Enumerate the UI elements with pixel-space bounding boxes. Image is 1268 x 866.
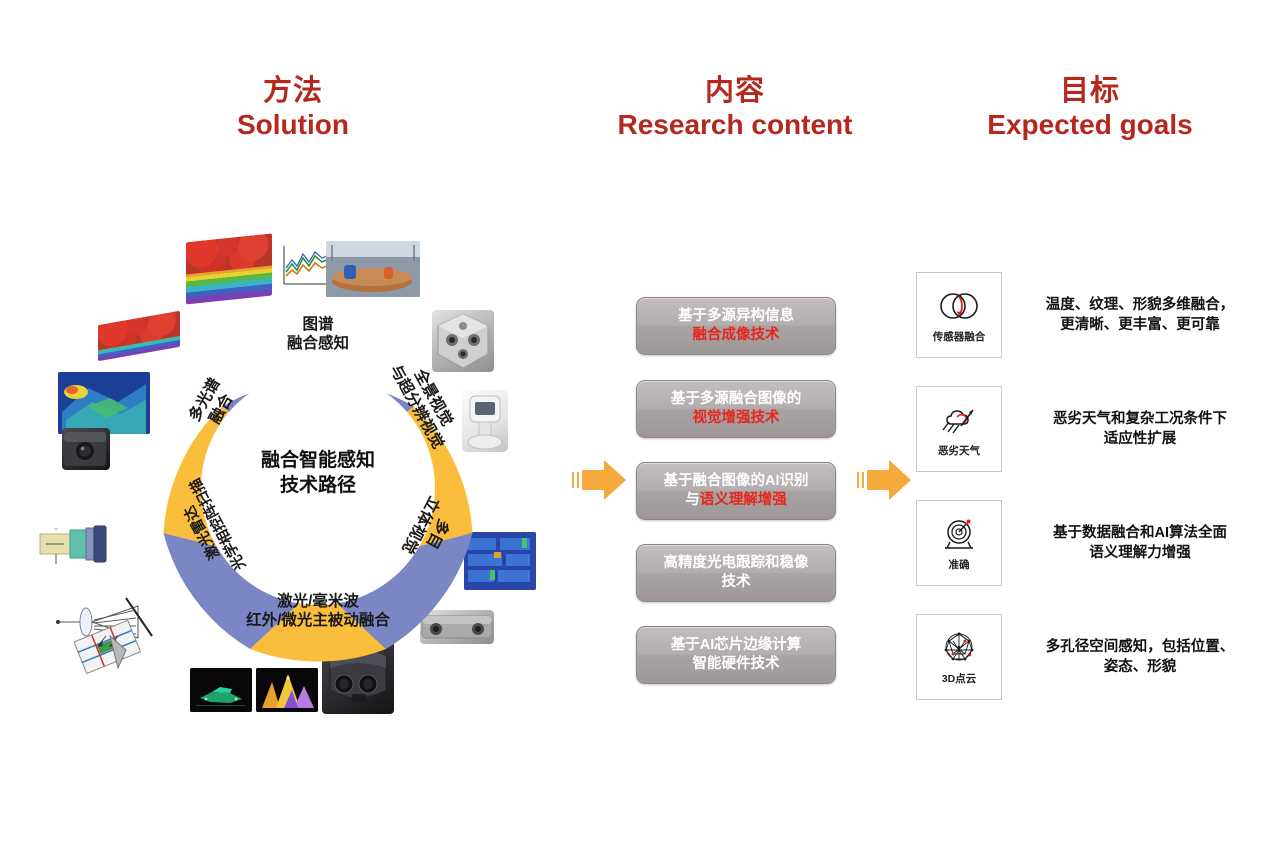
solution-donut-chart: 图谱 融合感知 全景视觉 与超分辨视觉 多目 立体视觉 激光/毫米波 红外/微光… <box>118 288 518 688</box>
donut-center-title: 融合智能感知 技术路径 <box>230 448 406 498</box>
bad-weather-rain-cloud-icon <box>937 400 981 440</box>
diagram-canvas: 方法 Solution 内容 Research content 目标 Expec… <box>0 0 1268 866</box>
goal-card-caption-2: 准确 <box>949 557 970 572</box>
goal-card-bad-weather[interactable]: 恶劣天气 <box>916 386 1002 472</box>
goal-text-0-line1: 温度、纹理、形貌多维融合， <box>1022 295 1258 315</box>
donut-label-3-line2: 红外/微光主被动融合 <box>218 612 418 631</box>
goal-card-accuracy[interactable]: 准确 <box>916 500 1002 586</box>
goal-text-1-line1: 恶劣天气和复杂工况条件下 <box>1022 409 1258 429</box>
research-box-1-line2: 视觉增强技术 <box>693 409 780 428</box>
research-box-2-prefix: 与 <box>685 492 700 508</box>
goal-card-sensor-fusion[interactable]: 传感器融合 <box>916 272 1002 358</box>
spectral-chart-icon <box>272 240 334 294</box>
header-cn-solution: 方法 <box>178 74 408 108</box>
goal-card-caption-0: 传感器融合 <box>933 329 986 344</box>
goal-text-2-line2: 语义理解力增强 <box>1022 543 1258 563</box>
goal-text-2-line1: 基于数据融合和AI算法全面 <box>1022 523 1258 543</box>
goal-card-caption-1: 恶劣天气 <box>938 443 980 458</box>
thumbnail-spectral-signature-chart <box>272 240 334 294</box>
donut-label-0-line1: 图谱 <box>228 316 408 335</box>
header-cn-goals: 目标 <box>950 74 1230 108</box>
donut-center-line2: 技术路径 <box>230 473 406 498</box>
research-box-visual-enhancement[interactable]: 基于多源融合图像的 视觉增强技术 <box>636 380 836 438</box>
right-arrow-icon-2 <box>855 456 915 504</box>
goal-text-point-cloud: 多孔径空间感知，包括位置、 姿态、形貌 <box>1022 637 1258 677</box>
point-cloud-sphere-icon <box>937 628 981 668</box>
goal-card-caption-3: 3D点云 <box>942 671 976 686</box>
header-en-content: Research content <box>600 108 870 142</box>
sensor-fusion-venn-icon <box>937 286 981 326</box>
goal-text-sensor-fusion: 温度、纹理、形貌多维融合， 更清晰、更丰富、更可靠 <box>1022 295 1258 335</box>
goal-text-3-line2: 姿态、形貌 <box>1022 657 1258 677</box>
header-cn-content: 内容 <box>600 74 870 108</box>
goal-row-sensor-fusion: 传感器融合 温度、纹理、形貌多维融合， 更清晰、更丰富、更可靠 <box>916 272 1256 358</box>
accuracy-target-icon <box>937 514 981 554</box>
column-header-solution: 方法 Solution <box>178 74 408 142</box>
research-box-ai-chip-edge-computing[interactable]: 基于AI芯片边缘计算 智能硬件技术 <box>636 626 836 684</box>
goal-text-bad-weather: 恶劣天气和复杂工况条件下 适应性扩展 <box>1022 409 1258 449</box>
research-box-4-line1: 基于AI芯片边缘计算 <box>671 636 802 655</box>
goal-text-accuracy: 基于数据融合和AI算法全面 语义理解力增强 <box>1022 523 1258 563</box>
research-box-1-line1: 基于多源融合图像的 <box>671 390 802 409</box>
research-box-2-line1: 基于融合图像的AI识别 <box>664 472 809 491</box>
research-box-0-line2: 融合成像技术 <box>693 326 780 345</box>
right-arrow-icon <box>570 456 630 504</box>
arrow-solution-to-content <box>570 456 630 504</box>
thumbnail-lidar-optics-assembly: ▭ <box>36 520 126 568</box>
goal-text-1-line2: 适应性扩展 <box>1022 429 1258 449</box>
goal-row-bad-weather: 恶劣天气 恶劣天气和复杂工况条件下 适应性扩展 <box>916 386 1256 472</box>
donut-center-line1: 融合智能感知 <box>230 448 406 473</box>
goal-text-0-line2: 更清晰、更丰富、更可靠 <box>1022 315 1258 335</box>
research-box-tracking-stabilization[interactable]: 高精度光电跟踪和稳像 技术 <box>636 544 836 602</box>
donut-label-3-line1: 激光/毫米波 <box>218 593 418 612</box>
thumbnail-spectral-camera-device <box>62 428 110 470</box>
svg-text:▭: ▭ <box>54 526 58 531</box>
header-en-solution: Solution <box>178 108 408 142</box>
arrow-content-to-goals <box>855 456 915 504</box>
goal-text-3-line1: 多孔径空间感知，包括位置、 <box>1022 637 1258 657</box>
donut-label-laser-mmwave-ir-fusion: 激光/毫米波 红外/微光主被动融合 <box>218 593 418 631</box>
research-box-2-line2: 与语义理解增强 <box>685 491 787 510</box>
research-box-3-line1: 高精度光电跟踪和稳像 <box>664 554 809 573</box>
camera-body-icon <box>62 428 110 470</box>
research-box-0-line1: 基于多源异构信息 <box>678 307 794 326</box>
optics-assembly-icon: ▭ <box>36 520 126 568</box>
column-header-research-content: 内容 Research content <box>600 74 870 142</box>
research-box-4-line2: 智能硬件技术 <box>693 655 780 674</box>
goal-row-accuracy: 准确 基于数据融合和AI算法全面 语义理解力增强 <box>916 500 1256 586</box>
research-box-2-highlight: 语义理解增强 <box>700 492 787 508</box>
research-box-ai-recognition-semantics[interactable]: 基于融合图像的AI识别 与语义理解增强 <box>636 462 836 520</box>
goal-card-point-cloud[interactable]: 3D点云 <box>916 614 1002 700</box>
goal-row-point-cloud: 3D点云 多孔径空间感知，包括位置、 姿态、形貌 <box>916 614 1256 700</box>
research-box-fusion-imaging[interactable]: 基于多源异构信息 融合成像技术 <box>636 297 836 355</box>
column-header-expected-goals: 目标 Expected goals <box>950 74 1230 142</box>
header-en-goals: Expected goals <box>950 108 1230 142</box>
research-box-3-line2: 技术 <box>722 573 751 592</box>
